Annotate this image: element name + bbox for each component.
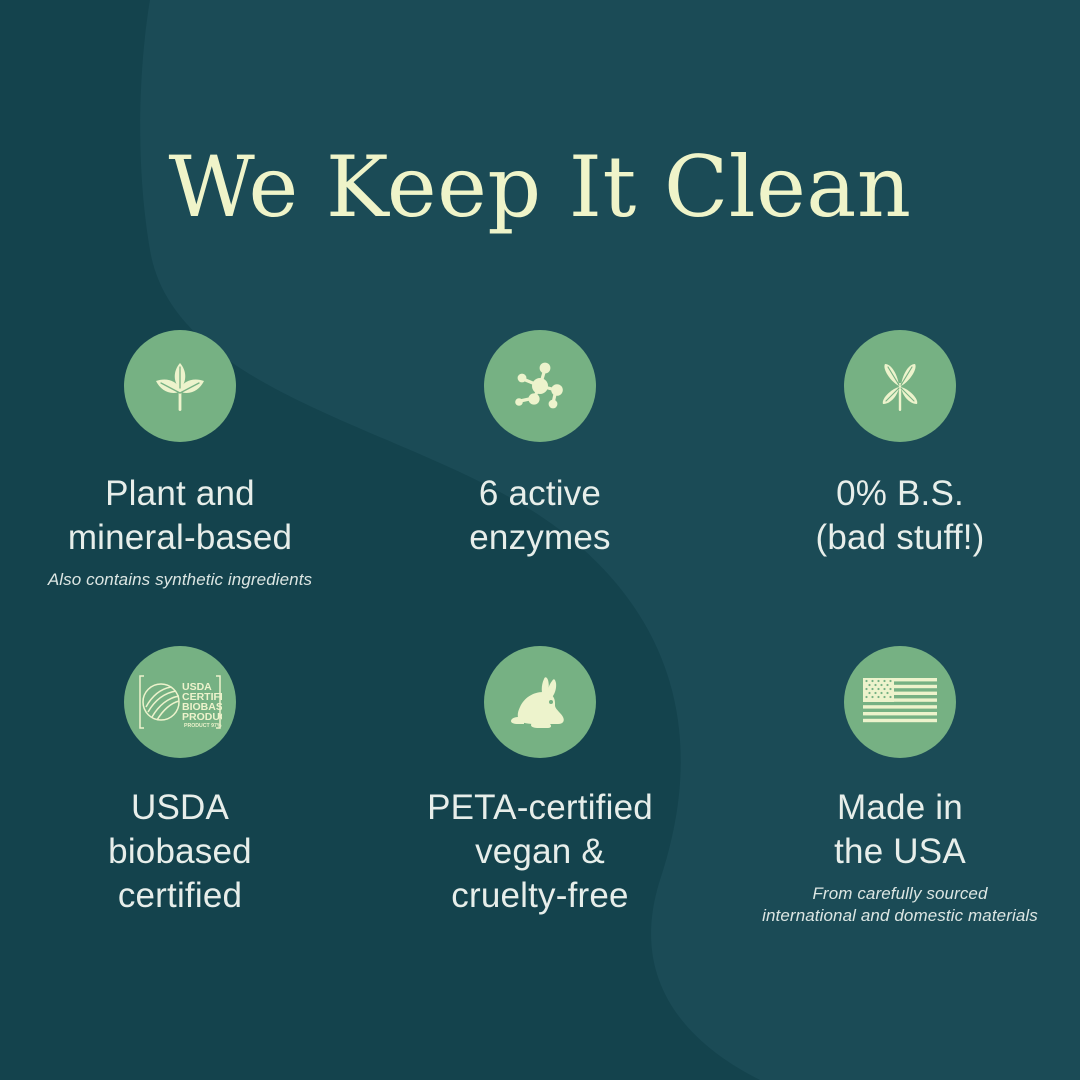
feature-label: USDA biobased certified: [108, 786, 252, 918]
usda-biobased-badge-icon: USDA CERTIFIED BIOBASED PRODUCT PRODUCT …: [138, 674, 222, 730]
icon-circle-usda: USDA CERTIFIED BIOBASED PRODUCT PRODUCT …: [124, 646, 236, 758]
feature-label: Made in the USA: [834, 786, 966, 874]
feature-label: 0% B.S. (bad stuff!): [815, 472, 984, 560]
feature-label: 6 active enzymes: [469, 472, 610, 560]
feature-note: Also contains synthetic ingredients: [48, 569, 312, 590]
icon-circle-molecule: [484, 330, 596, 442]
plant-leaves-icon: [149, 355, 211, 417]
promo-card: We Keep It Clean: [0, 0, 1080, 1080]
icon-circle-sprout: [844, 330, 956, 442]
feature-item-active-enzymes: 6 active enzymes: [360, 330, 720, 630]
feature-item-made-in-usa: Made in the USA From carefully sourced i…: [720, 646, 1080, 946]
feature-label: Plant and mineral-based: [68, 472, 292, 560]
feature-item-usda-biobased: USDA CERTIFIED BIOBASED PRODUCT PRODUCT …: [0, 646, 360, 946]
feature-grid: Plant and mineral-based Also contains sy…: [0, 330, 1080, 946]
feature-item-zero-bs: 0% B.S. (bad stuff!): [720, 330, 1080, 630]
usda-line-4: PRODUCT: [182, 711, 222, 723]
icon-circle-rabbit: [484, 646, 596, 758]
usda-line-5: PRODUCT 97%: [184, 723, 222, 729]
four-leaf-sprout-icon: [871, 357, 929, 415]
usa-flag-icon: [863, 678, 937, 726]
page-title: We Keep It Clean: [0, 144, 1080, 231]
icon-circle-plant: [124, 330, 236, 442]
feature-item-plant-mineral-based: Plant and mineral-based Also contains sy…: [0, 330, 360, 630]
feature-label: PETA-certified vegan & cruelty-free: [427, 786, 653, 918]
molecule-icon: [510, 356, 570, 416]
rabbit-icon: [508, 673, 572, 731]
icon-circle-flag: [844, 646, 956, 758]
feature-note: From carefully sourced international and…: [762, 883, 1038, 926]
feature-item-peta-certified: PETA-certified vegan & cruelty-free: [360, 646, 720, 946]
